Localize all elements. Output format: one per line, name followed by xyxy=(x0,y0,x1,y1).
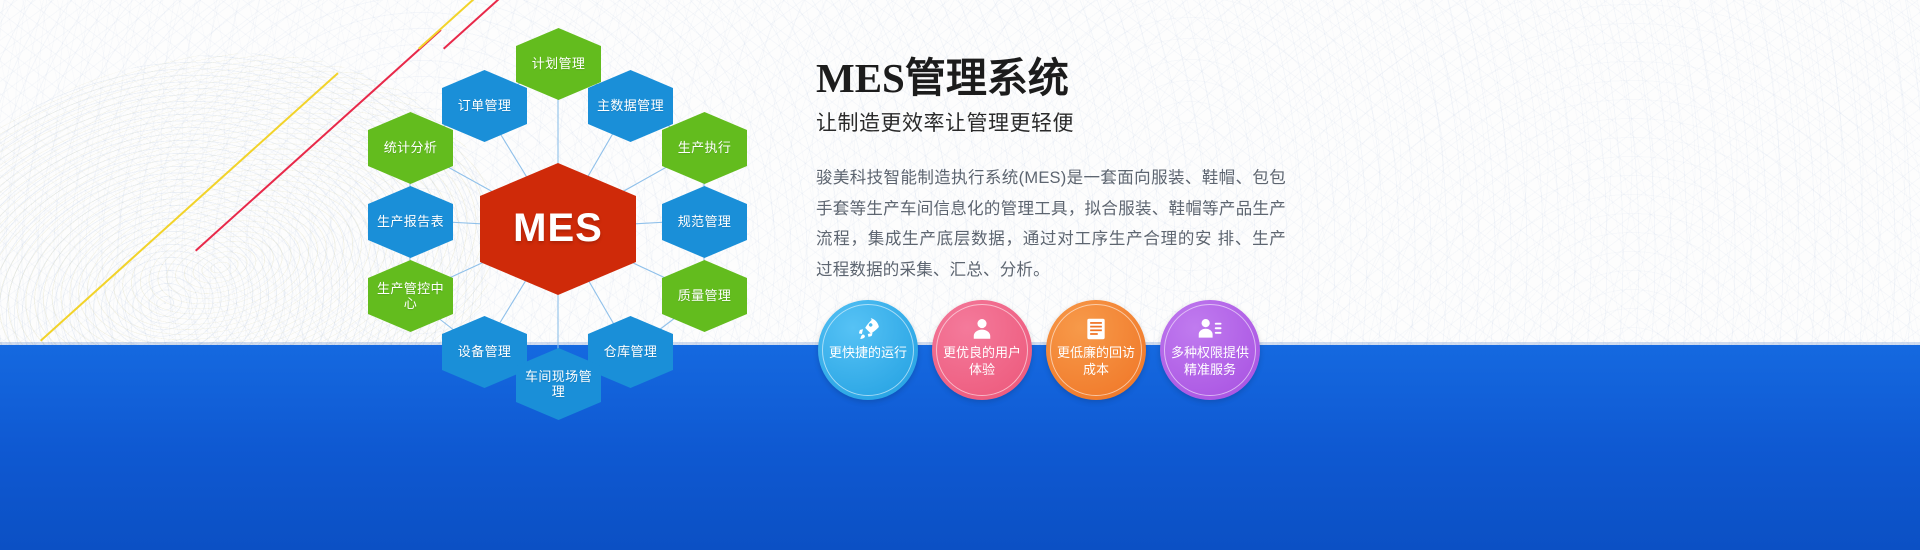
page-subtitle: 让制造更效率让管理更轻便 xyxy=(816,107,1286,137)
hex-node-label: 生产执行 xyxy=(678,140,732,155)
mes-banner: MES 计划管理 订单管理 主数据管理 统计分析 生产执行 生产报告表 规范管理… xyxy=(0,0,1920,550)
rocket-icon xyxy=(855,316,881,342)
feature-badge-2[interactable]: 更低廉的回访成本 xyxy=(1046,300,1146,400)
hex-node-label: 设备管理 xyxy=(458,344,512,359)
hex-node-label: 统计分析 xyxy=(384,140,438,155)
hex-node-label: 规范管理 xyxy=(678,214,732,229)
text-panel: MES管理系统 让制造更效率让管理更轻便 骏美科技智能制造执行系统(MES)是一… xyxy=(816,56,1286,285)
hex-node-label: 生产管控中心 xyxy=(372,281,449,312)
feature-badge-label: 更快捷的运行 xyxy=(819,345,917,362)
hex-node-label: 订单管理 xyxy=(458,98,512,113)
user-icon xyxy=(969,316,995,342)
page-title: MES管理系统 xyxy=(816,56,1286,100)
feature-badge-3[interactable]: 多种权限提供精准服务 xyxy=(1160,300,1260,400)
hex-node-label: 仓库管理 xyxy=(604,344,658,359)
hex-node-label: 质量管理 xyxy=(678,288,732,303)
hex-node-label: 生产报告表 xyxy=(377,214,444,229)
decorative-diagonal-yellow xyxy=(40,72,339,341)
hex-node-label: 计划管理 xyxy=(532,56,586,71)
hex-node-label: 主数据管理 xyxy=(597,98,664,113)
mes-hex-diagram: MES 计划管理 订单管理 主数据管理 统计分析 生产执行 生产报告表 规范管理… xyxy=(330,0,790,440)
feature-badge-label: 更低廉的回访成本 xyxy=(1046,345,1146,379)
list-icon xyxy=(1083,316,1109,342)
hex-core-label: MES xyxy=(513,205,603,252)
feature-badge-label: 更优良的用户体验 xyxy=(932,345,1032,379)
feature-badge-1[interactable]: 更优良的用户体验 xyxy=(932,300,1032,400)
description-paragraph: 骏美科技智能制造执行系统(MES)是一套面向服装、鞋帽、包包手套等生产车间信息化… xyxy=(816,163,1286,285)
feature-badges: 更快捷的运行 更优良的用户体验 xyxy=(818,300,1260,400)
feature-badge-0[interactable]: 更快捷的运行 xyxy=(818,300,918,400)
feature-badge-label: 多种权限提供精准服务 xyxy=(1160,345,1260,379)
users-icon xyxy=(1197,316,1223,342)
hex-node-label: 车间现场管理 xyxy=(520,369,597,400)
